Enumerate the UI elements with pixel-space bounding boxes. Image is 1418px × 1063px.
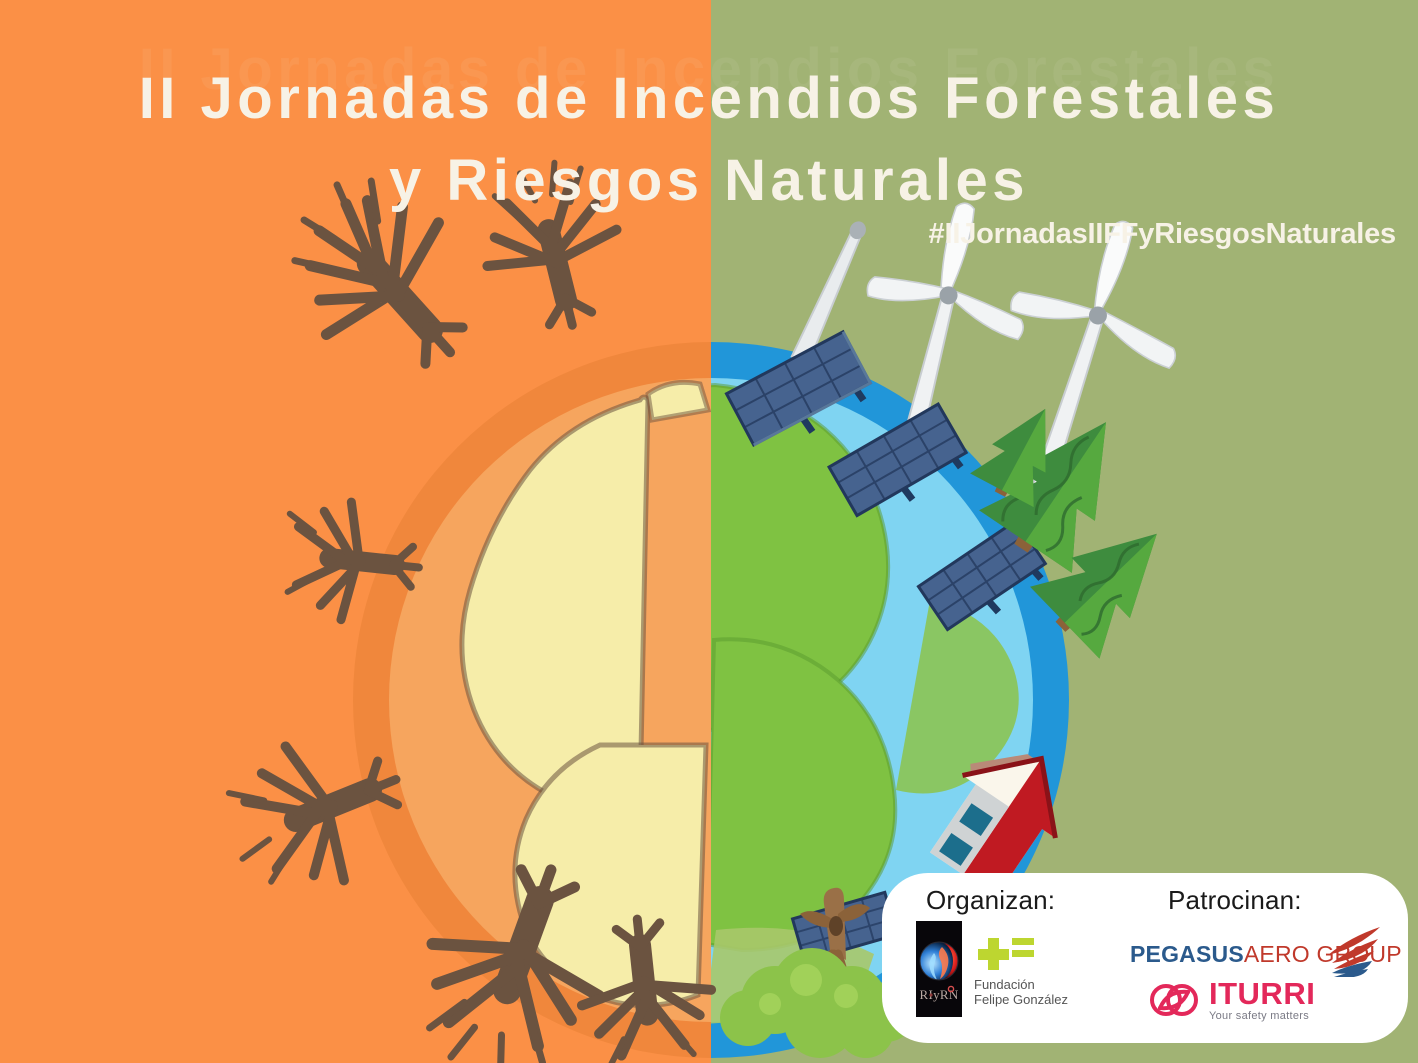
pegasus-aero-group-logo[interactable]: PEGASUSAERO GROUP xyxy=(1130,941,1408,968)
fundacion-line-2: Felipe González xyxy=(974,992,1068,1007)
iturri-text-block: ITURRI Your safety matters xyxy=(1209,979,1315,1022)
fundacion-felipe-gonzalez-logo[interactable]: FundaciónFelipe González xyxy=(974,932,1068,1007)
iturri-tagline: Your safety matters xyxy=(1209,1010,1315,1022)
fundacion-name: FundaciónFelipe González xyxy=(974,977,1068,1007)
pegasus-wing-icon xyxy=(1314,925,1384,977)
plus-equals-mark xyxy=(976,932,1038,972)
iturri-logo[interactable]: ITURRI Your safety matters xyxy=(1148,978,1408,1022)
organizers-heading: Organizan: xyxy=(926,885,1114,915)
patrons-heading: Patrocinan: xyxy=(1168,885,1408,915)
sponsors-card: Organizan: RIyRN xyxy=(882,873,1408,1043)
organizers-section: Organizan: RIyRN xyxy=(882,873,1114,1043)
poster-canvas: II Jornadas de Incendios Forestales II J… xyxy=(0,0,1418,1063)
iturri-wordmark: ITURRI xyxy=(1209,979,1315,1009)
organizer-logos: RIyRN FundaciónFelipe González xyxy=(908,921,1114,1017)
iturri-loops-icon xyxy=(1148,978,1200,1022)
patrons-section: Patrocinan: PEGASUSAERO GROUP xyxy=(1114,873,1408,1043)
pegasus-word-1: PEGASUS xyxy=(1130,941,1244,967)
fundacion-line-1: Fundación xyxy=(974,977,1035,992)
event-hashtag: #IIJornadasIIFFyRiesgosNaturales xyxy=(929,218,1396,251)
riyrn-logo[interactable]: RIyRN xyxy=(916,921,962,1017)
